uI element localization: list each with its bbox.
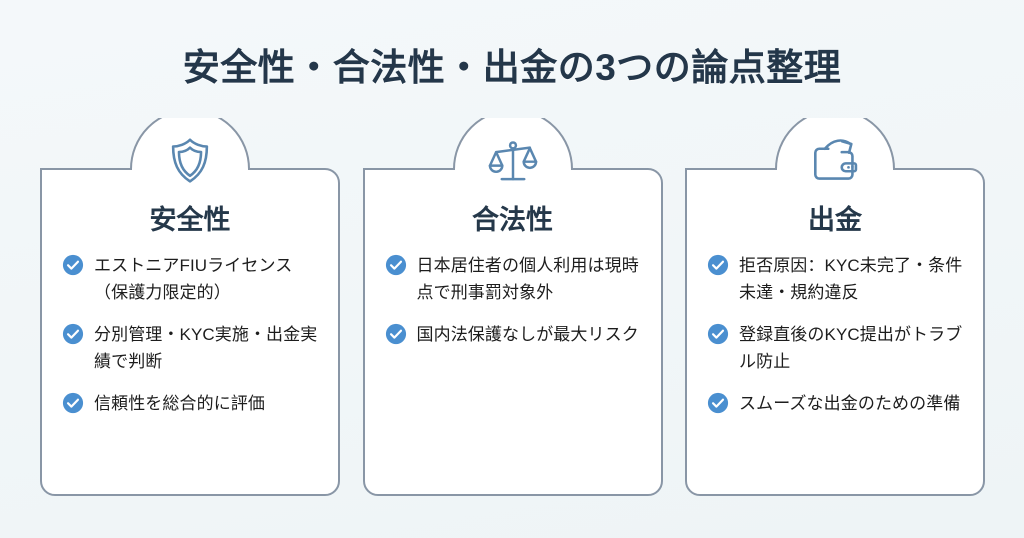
slide-canvas: 安全性・合法性・出金の3つの論点整理 安全性 [0,0,1024,538]
wallet-withdraw-icon [807,132,863,188]
check-circle-icon [707,392,729,414]
page-title: 安全性・合法性・出金の3つの論点整理 [0,37,1024,91]
card-withdrawal[interactable]: 出金 拒否原因：KYC未完了・条件未達・規約違反 [685,118,985,496]
check-circle-icon [385,323,407,345]
list-item: 国内法保護なしが最大リスク [385,321,647,348]
bullet-list-withdrawal: 拒否原因：KYC未完了・条件未達・規約違反 登録直後のKYC提出がトラブル防止 [707,252,969,417]
shield-icon [162,132,218,188]
bullet-text: 日本居住者の個人利用は現時点で刑事罰対象外 [417,252,647,306]
list-item: エストニアFIUライセンス（保護力限定的） [62,252,324,306]
list-item: 拒否原因：KYC未完了・条件未達・規約違反 [707,252,969,306]
card-title-withdrawal: 出金 [685,198,985,237]
card-legality[interactable]: 合法性 日本居住者の個人利用は現時点で刑事罰対象外 [363,118,663,496]
list-item: 信頼性を総合的に評価 [62,390,324,417]
bullet-text: 登録直後のKYC提出がトラブル防止 [739,321,969,375]
bullet-text: 国内法保護なしが最大リスク [417,321,639,348]
check-circle-icon [62,392,84,414]
bullet-text: エストニアFIUライセンス（保護力限定的） [94,252,324,306]
card-row: 安全性 エストニアFIUライセンス（保護力限定的） [40,118,985,498]
balance-scale-icon [485,132,541,188]
bullet-text: 分別管理・KYC実施・出金実績で判断 [94,321,324,375]
check-circle-icon [707,323,729,345]
bullet-list-safety: エストニアFIUライセンス（保護力限定的） 分別管理・KYC実施・出金実績で判断 [62,252,324,417]
check-circle-icon [62,254,84,276]
bullet-list-legality: 日本居住者の個人利用は現時点で刑事罰対象外 国内法保護なしが最大リスク [385,252,647,348]
list-item: 登録直後のKYC提出がトラブル防止 [707,321,969,375]
bullet-text: スムーズな出金のための準備 [739,390,960,417]
card-safety[interactable]: 安全性 エストニアFIUライセンス（保護力限定的） [40,118,340,496]
bullet-text: 拒否原因：KYC未完了・条件未達・規約違反 [739,252,969,306]
list-item: スムーズな出金のための準備 [707,390,969,417]
check-circle-icon [707,254,729,276]
list-item: 日本居住者の個人利用は現時点で刑事罰対象外 [385,252,647,306]
card-title-safety: 安全性 [40,198,340,237]
check-circle-icon [62,323,84,345]
list-item: 分別管理・KYC実施・出金実績で判断 [62,321,324,375]
bullet-text: 信頼性を総合的に評価 [94,390,265,417]
check-circle-icon [385,254,407,276]
card-title-legality: 合法性 [363,198,663,237]
